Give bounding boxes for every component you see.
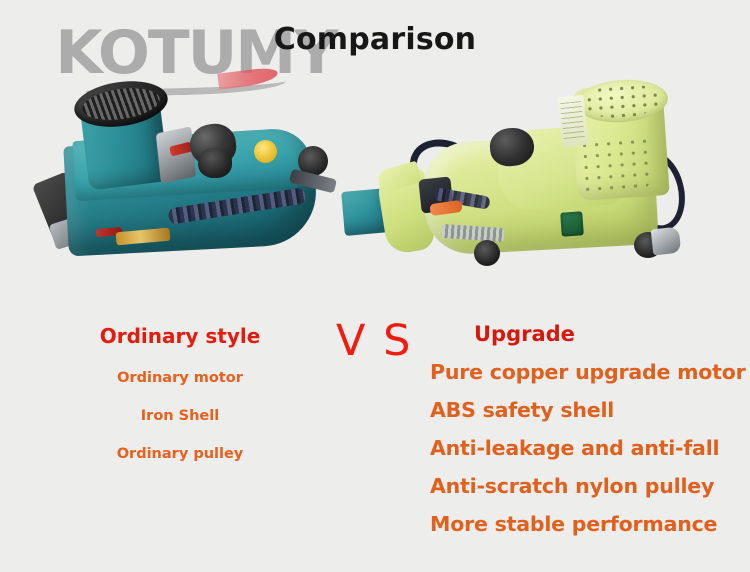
upgrade-feature-item: More stable performance [430, 512, 750, 536]
page-title: Comparison [0, 22, 750, 57]
upgrade-feature-item: Pure copper upgrade motor [430, 360, 750, 384]
product-photo-area [0, 72, 750, 292]
upgrade-heading: Upgrade [474, 322, 750, 346]
product-image-ordinary [38, 78, 358, 283]
comparison-column-upgrade: Upgrade Pure copper upgrade motor ABS sa… [422, 300, 750, 536]
comparison-column-ordinary: Ordinary style Ordinary motor Iron Shell… [30, 300, 330, 462]
ordinary-knob-base-icon [198, 148, 232, 178]
comparison-columns: Ordinary style Ordinary motor Iron Shell… [0, 300, 750, 572]
ordinary-vent-grille-icon [80, 84, 161, 125]
upgrade-feature-item: ABS safety shell [430, 398, 750, 422]
upgrade-blade-icon [651, 227, 682, 256]
ordinary-yellow-sticker-icon [254, 140, 277, 163]
ordinary-heading: Ordinary style [30, 324, 330, 348]
comparison-banner: KOTUMY Comparison [0, 0, 750, 572]
ordinary-feature-item: Iron Shell [30, 408, 330, 424]
upgrade-green-switch-icon [560, 211, 584, 236]
ordinary-feature-item: Ordinary motor [30, 370, 330, 386]
upgrade-nylon-pulley-icon [474, 240, 500, 266]
upgrade-feature-item: Anti-scratch nylon pulley [430, 474, 750, 498]
upgrade-feature-item: Anti-leakage and anti-fall [430, 436, 750, 460]
upgrade-side-vent-holes-icon [578, 136, 649, 193]
ordinary-feature-item: Ordinary pulley [30, 446, 330, 462]
vs-divider-label: V S [336, 316, 412, 366]
product-image-upgrade [378, 80, 708, 280]
upgrade-spec-label-text-lines [560, 101, 585, 141]
